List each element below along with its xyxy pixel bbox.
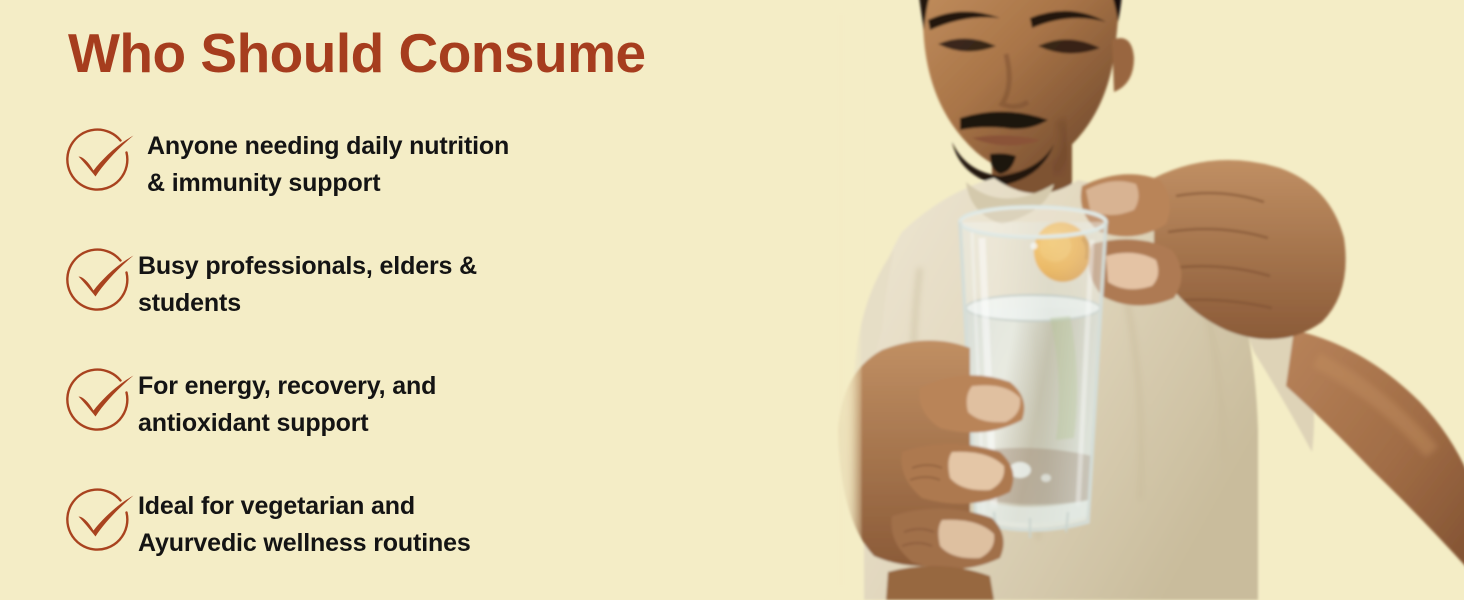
- check-circle-icon: [62, 480, 138, 556]
- who-should-consume-banner: Who Should Consume Anyone needing daily …: [0, 0, 1464, 600]
- list-item-label: Anyone needing daily nutrition & immunit…: [138, 118, 509, 202]
- list-item: Busy professionals, elders & students: [62, 238, 762, 358]
- list-item-label: For energy, recovery, and antioxidant su…: [138, 358, 436, 442]
- check-circle-icon: [62, 360, 138, 436]
- product-usage-photo: [824, 0, 1464, 600]
- list-item-label: Busy professionals, elders & students: [138, 238, 477, 322]
- list-item: For energy, recovery, and antioxidant su…: [62, 358, 762, 478]
- content-panel: Who Should Consume Anyone needing daily …: [0, 0, 880, 600]
- check-circle-icon: [62, 240, 138, 316]
- list-item: Ideal for vegetarian and Ayurvedic welln…: [62, 478, 762, 598]
- list-item: Anyone needing daily nutrition & immunit…: [62, 118, 762, 238]
- check-circle-icon: [62, 120, 138, 196]
- benefit-list: Anyone needing daily nutrition & immunit…: [62, 118, 762, 598]
- page-title: Who Should Consume: [68, 24, 646, 83]
- list-item-label: Ideal for vegetarian and Ayurvedic welln…: [138, 478, 471, 562]
